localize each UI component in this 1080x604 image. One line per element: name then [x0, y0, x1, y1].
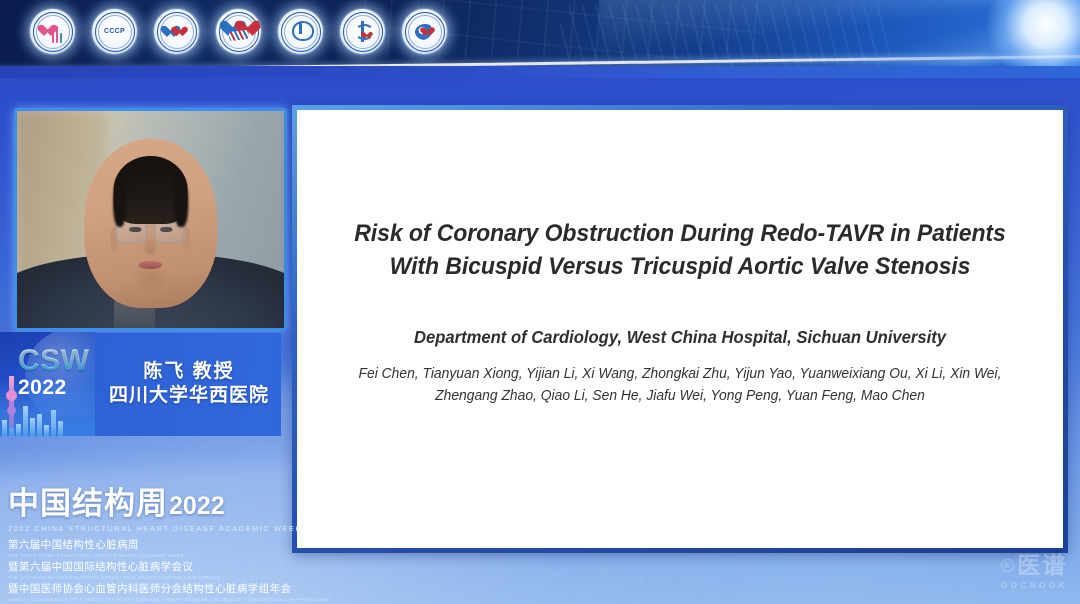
- speaker-organization: 四川大学华西医院: [105, 384, 273, 409]
- event-title-cn: 中国结构周: [8, 488, 168, 519]
- speaker-mouth: [139, 261, 162, 268]
- slide-title: Risk of Coronary Obstruction During Redo…: [344, 218, 1015, 283]
- slide-content: Risk of Coronary Obstruction During Redo…: [297, 110, 1063, 548]
- csw-logo: CSW 2022: [0, 332, 95, 436]
- event-subtitle-2-en: THE SIXTH CHINA INTERNATIONAL STRUCTURAL…: [8, 575, 240, 580]
- presentation-slide[interactable]: Risk of Coronary Obstruction During Redo…: [292, 105, 1068, 553]
- watermark-en: DOCBOOK: [1001, 580, 1068, 590]
- event-subtitles: 第六届中国结构性心脏病周 THE SIXTH CHINA STRUCTURAL …: [8, 540, 240, 602]
- logo-china-heart-house-icon: China Heart House: [278, 9, 323, 54]
- event-subtitle-1-cn: 第六届中国结构性心脏病周: [8, 540, 240, 551]
- csw-logo-tower: [9, 376, 14, 428]
- speaker-hair-left: [113, 176, 126, 227]
- csw-logo-text: CSW 2022: [18, 346, 90, 398]
- speaker-head: [84, 139, 218, 308]
- speaker-video-feed[interactable]: [14, 108, 287, 331]
- slide-department: Department of Cardiology, West China Hos…: [341, 327, 1019, 348]
- csw-logo-main: CSW: [18, 346, 90, 376]
- speaker-name: 陈飞 教授: [105, 360, 273, 384]
- watermark: ® 医谱 DOCBOOK: [1001, 554, 1068, 590]
- livestream-screen: CCCP China Heart House: [0, 0, 1080, 604]
- watermark-cn-row: ® 医谱: [1001, 554, 1068, 577]
- logo-structural-heart-icon: [402, 9, 447, 54]
- speaker-chin: [133, 271, 168, 291]
- sponsor-logo-row: CCCP China Heart House: [30, 9, 447, 54]
- logo-cccp-text: CCCP: [104, 28, 125, 35]
- event-subtitle-2-cn: 暨第六届中国国际结构性心脏病学会议: [8, 562, 240, 573]
- glasses-bridge: [145, 226, 156, 228]
- speaker-hair-right: [175, 176, 188, 227]
- watermark-cn: 医谱: [1017, 554, 1067, 577]
- header-lower-band: [0, 66, 1080, 78]
- event-title-year: 2022: [169, 494, 225, 519]
- slide-authors: Fei Chen, Tianyuan Xiong, Yijian Li, Xi …: [341, 364, 1019, 408]
- watermark-registered-icon: ®: [1001, 559, 1014, 572]
- event-branding: 中国结构周 2022 2022 CHINA STRUCTURAL HEART D…: [8, 488, 240, 604]
- event-subtitle-1-en: THE SIXTH CHINA STRUCTURAL HEART DISEASE…: [8, 553, 240, 558]
- speaker-nose: [145, 234, 156, 254]
- logo-chinese-cardio-institute-icon: [30, 9, 75, 54]
- logo-heart-blue-icon: [154, 9, 199, 54]
- logo-handshake-heart-icon: [216, 9, 261, 54]
- speaker-name-bar: CSW 2022 陈飞 教授 四川大学华西医院: [0, 332, 281, 436]
- event-subtitle-3-cn: 暨中国医师协会心血管内科医师分会结构性心脏病学组年会: [8, 584, 240, 595]
- csw-logo-year: 2022: [18, 377, 90, 398]
- logo-cardiology-society-icon: [340, 9, 385, 54]
- speaker-info: 陈飞 教授 四川大学华西医院: [95, 360, 281, 408]
- event-title: 中国结构周 2022: [8, 488, 240, 519]
- event-title-en: 2022 CHINA STRUCTURAL HEART DISEASE ACAD…: [8, 524, 240, 533]
- event-subtitle-3-en: ANNUAL CONFERENCE OF STRUCTURAL HEART DI…: [8, 597, 240, 602]
- logo-cccp-icon: CCCP: [92, 9, 137, 54]
